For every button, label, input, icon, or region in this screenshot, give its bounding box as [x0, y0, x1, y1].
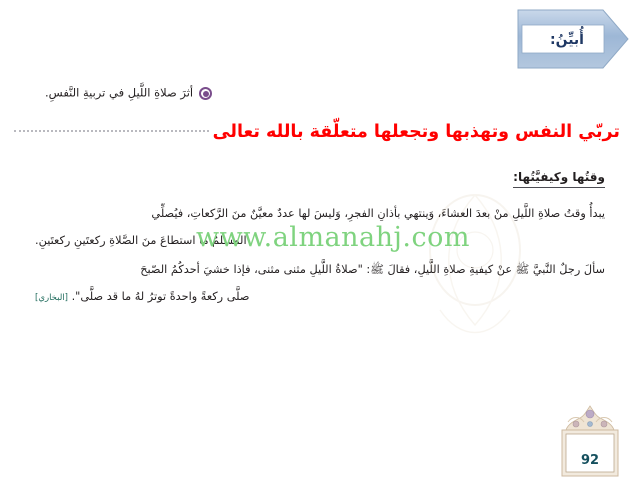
section-banner-label: أُبيِّنُ: [528, 28, 606, 52]
paragraph-line: سألَ رجلٌ النَّبيَّ ﷺ عنْ كيفيةِ صلاةِ ا… [35, 256, 605, 283]
page-number-block: 92 [554, 402, 626, 480]
task-bullet-row: أثرَ صلاةِ اللَّيلِ في تربيةِ النَّفسِ. [45, 82, 212, 103]
paragraph-hadith: سألَ رجلٌ النَّبيَّ ﷺ عنْ كيفيةِ صلاةِ ا… [35, 256, 605, 312]
answer-dotted-leader [14, 130, 209, 133]
paragraph-line: يبدأُ وقتُ صلاةِ اللَّيلِ منْ بعدَ العشا… [35, 200, 605, 227]
paragraph-line-with-source: صلَّى ركعةً واحدةً توترُ لهُ ما قد صلَّى… [35, 283, 605, 312]
answer-row: تربّي النفس وتهذبها وتجعلها متعلّقة بالل… [14, 118, 620, 146]
bullet-dot-icon [199, 87, 212, 100]
answer-text: تربّي النفس وتهذبها وتجعلها متعلّقة بالل… [213, 122, 620, 142]
hadith-source: [البخاري] [35, 293, 68, 303]
paragraph-time-and-manner: يبدأُ وقتُ صلاةِ اللَّيلِ منْ بعدَ العشا… [35, 200, 605, 254]
section-heading: وقتُها وكيفيَّتُها: [513, 168, 605, 188]
task-text: أثرَ صلاةِ اللَّيلِ في تربيةِ النَّفسِ. [45, 86, 193, 100]
page-number: 92 [567, 450, 613, 472]
paragraph-line-text: صلَّى ركعةً واحدةً توترُ لهُ ما قد صلَّى… [72, 290, 250, 303]
task-line: أثرَ صلاةِ اللَّيلِ في تربيةِ النَّفسِ. [45, 82, 605, 103]
lesson-page: أُبيِّنُ: أثرَ صلاةِ اللَّيلِ في تربيةِ … [0, 0, 640, 480]
section-banner: أُبيِّنُ: [498, 8, 630, 70]
paragraph-line: المسلمُ ما استطاعَ منَ الصَّلاةِ ركعتَين… [35, 227, 605, 254]
